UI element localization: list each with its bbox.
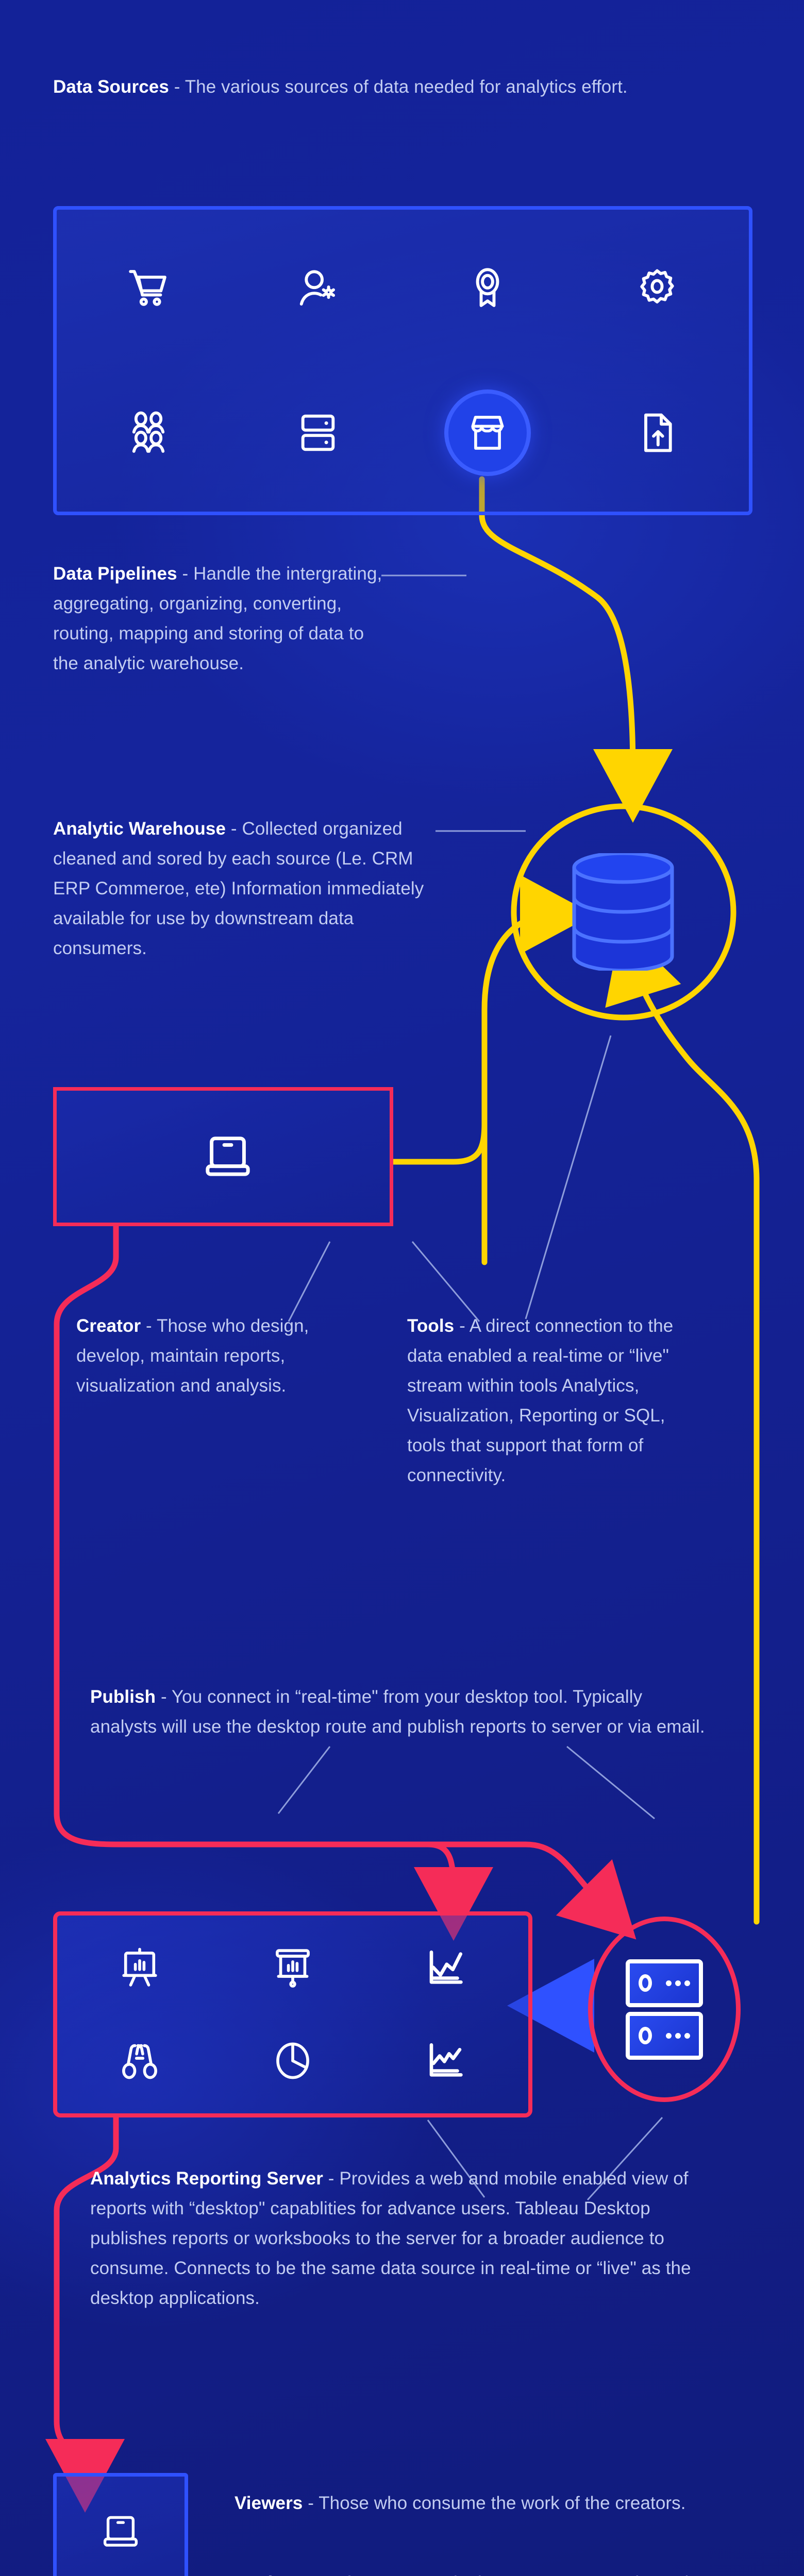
publish-title: Publish	[90, 1687, 156, 1707]
server-led-icon	[639, 1974, 652, 1992]
data-pipelines-title: Data Pipelines	[53, 564, 177, 584]
storefront-icon[interactable]	[466, 411, 509, 454]
viewers-body: Those who consume the work of the creato…	[319, 2493, 685, 2513]
server-stack-icon[interactable]	[626, 1959, 703, 2060]
analytic-warehouse-dash: -	[231, 819, 237, 839]
laptop-icon[interactable]	[203, 1131, 253, 1181]
pie-chart-icon[interactable]	[271, 2039, 314, 2082]
bi-viewers-dash: -	[329, 2573, 336, 2576]
server-led-icon	[639, 2027, 652, 2044]
bi-viewers-title: BI viewers	[234, 2573, 324, 2576]
data-sources-icon-grid	[63, 216, 742, 505]
analytics-reporting-server-text: Analytics Reporting Server - Provides a …	[90, 2164, 727, 2313]
viewers-dash: -	[308, 2493, 314, 2513]
creator-title: Creator	[76, 1316, 141, 1336]
server-dots-icon	[666, 1980, 690, 1986]
analytic-warehouse-title: Analytic Warehouse	[53, 819, 226, 839]
people-group-icon[interactable]	[126, 410, 171, 455]
bi-viewers-text: BI viewers - If you want to look at repo…	[234, 2568, 742, 2576]
data-pipelines-dash: -	[182, 564, 189, 584]
analytics-reporting-server-body: Provides a web and mobile enabled view o…	[90, 2168, 691, 2308]
binoculars-icon[interactable]	[118, 2039, 161, 2082]
gear-icon[interactable]	[634, 266, 680, 311]
analytic-warehouse-text: Analytic Warehouse - Collected organized…	[53, 814, 437, 963]
server-unit-top	[626, 1959, 703, 2007]
viewers-title: Viewers	[234, 2493, 303, 2513]
tools-title: Tools	[407, 1316, 454, 1336]
user-settings-icon[interactable]	[295, 266, 341, 311]
analytics-reporting-server-dash: -	[328, 2168, 334, 2189]
creator-dash: -	[146, 1316, 152, 1336]
shopping-cart-icon[interactable]	[126, 266, 171, 311]
tools-dash: -	[459, 1316, 465, 1336]
laptop-icon[interactable]	[101, 2512, 140, 2551]
publish-text: Publish - You connect in “real-time" fro…	[90, 1682, 714, 1742]
publish-dash: -	[161, 1687, 167, 1707]
server-dots-icon	[666, 2033, 690, 2039]
line-chart-up-icon[interactable]	[424, 1946, 467, 1990]
viewers-text: Viewers - Those who consume the work of …	[234, 2488, 742, 2518]
file-upload-icon[interactable]	[634, 410, 680, 455]
database-cylinder-icon[interactable]	[570, 853, 676, 971]
analytics-reporting-server-title: Analytics Reporting Server	[90, 2168, 323, 2189]
analytic-warehouse-body: Collected organized cleaned and sored by…	[53, 819, 424, 958]
server-circle	[588, 1917, 741, 2102]
data-sources-dash: -	[174, 77, 180, 97]
viewers-icon-grid	[57, 2488, 185, 2576]
data-sources-body: The various sources of data needed for a…	[185, 77, 628, 97]
presentation-bar-chart-icon[interactable]	[118, 1946, 161, 1990]
storefront-icon-highlight[interactable]	[448, 394, 527, 472]
publish-body: You connect in “real-time" from your des…	[90, 1687, 705, 1737]
award-badge-icon[interactable]	[465, 266, 510, 311]
projector-screen-chart-icon[interactable]	[271, 1946, 314, 1990]
creator-text: Creator - Those who design, develop, mai…	[76, 1311, 349, 1401]
reporting-tools-icon-grid	[63, 1922, 522, 2107]
tools-text: Tools - A direct connection to the data …	[407, 1311, 688, 1491]
database-rack-icon[interactable]	[295, 410, 341, 455]
data-sources-text: Data Sources - The various sources of da…	[53, 72, 672, 102]
tools-body: A direct connection to the data enabled …	[407, 1316, 673, 1485]
data-sources-title: Data Sources	[53, 77, 169, 97]
line-chart-zigzag-icon[interactable]	[424, 2039, 467, 2082]
server-unit-bottom	[626, 2012, 703, 2060]
infographic-canvas: Data Sources - The various sources of da…	[0, 0, 804, 2576]
data-pipelines-text: Data Pipelines - Handle the intergrating…	[53, 559, 383, 679]
